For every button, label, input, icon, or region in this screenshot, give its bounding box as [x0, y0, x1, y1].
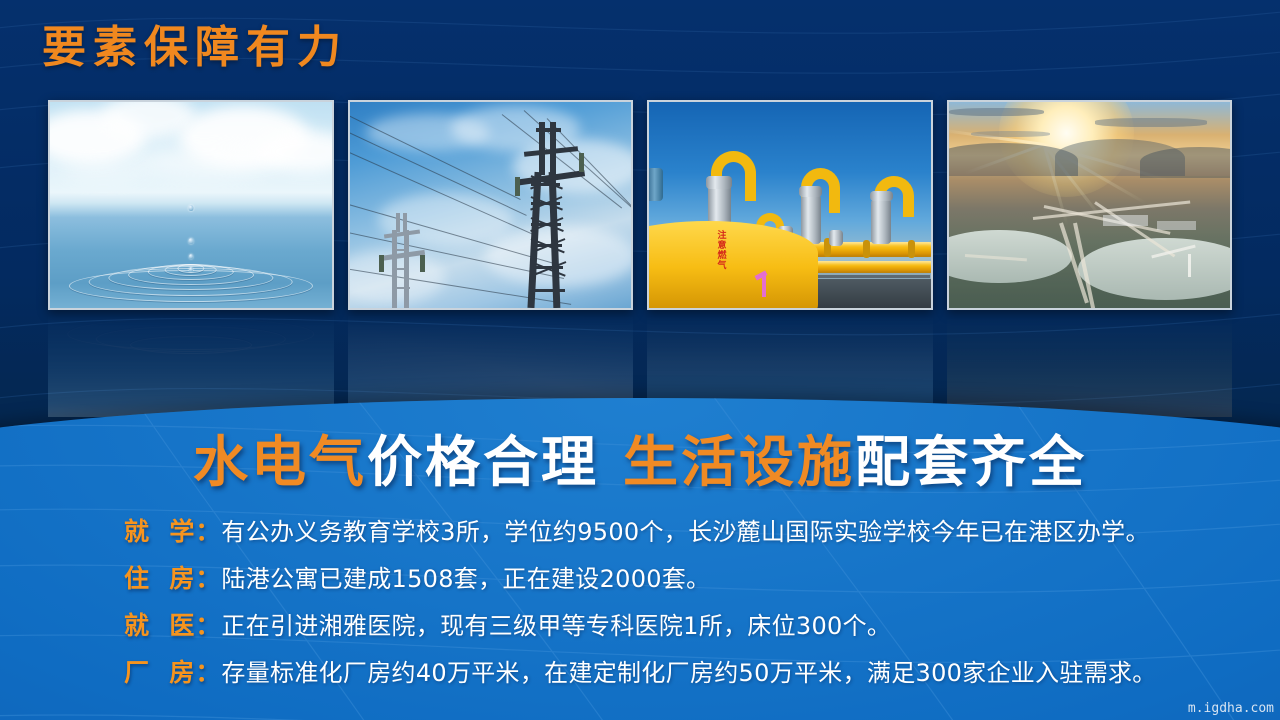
gas-pipeline-photo: 注意燃气 — [647, 100, 933, 310]
main-headline: 水电气价格合理生活设施配套齐全 — [0, 432, 1280, 492]
list-item-text: 正在引进湘雅医院，现有三级甲等专科医院1所，床位300个。 — [221, 606, 891, 641]
info-list: 就 学： 有公办义务教育学校3所，学位约9500个，长沙麓山国际实验学校今年已在… — [0, 512, 1280, 700]
city-scene — [949, 102, 1231, 308]
headline-part-2: 价格合理 — [367, 430, 599, 494]
section-title: 要素保障有力 — [42, 22, 348, 74]
site-watermark: m.igdha.com — [1188, 701, 1274, 716]
list-item-text: 存量标准化厂房约40万平米，在建定制化厂房约50万平米，满足300家企业入驻需求… — [221, 653, 1156, 688]
water-scene — [50, 102, 332, 308]
power-scene — [350, 102, 632, 308]
list-item: 就 医： 正在引进湘雅医院，现有三级甲等专科医院1所，床位300个。 — [0, 606, 1280, 653]
slide-root: 要素保障有力 — [0, 0, 1280, 720]
water-resource-photo — [48, 100, 334, 310]
headline-part-3: 生活设施 — [623, 430, 855, 494]
headline-part-1: 水电气 — [193, 430, 367, 494]
power-grid-photo — [348, 100, 634, 310]
list-item-text: 有公办义务教育学校3所，学位约9500个，长沙麓山国际实验学校今年已在港区办学。 — [221, 512, 1149, 547]
list-item: 厂 房： 存量标准化厂房约40万平米，在建定制化厂房约50万平米，满足300家企… — [0, 653, 1280, 700]
pipe-warning-text: 注意燃气 — [717, 230, 726, 270]
main-gas-pipe — [647, 221, 818, 310]
list-item-label: 就 医： — [124, 606, 221, 642]
transmission-tower-main — [490, 118, 603, 308]
city-aerial-photo — [947, 100, 1233, 310]
transmission-tower-secondary — [366, 213, 434, 308]
list-item-label: 就 学： — [124, 512, 221, 548]
gas-scene: 注意燃气 — [649, 102, 931, 308]
list-item-label: 住 房： — [124, 559, 221, 595]
list-item: 就 学： 有公办义务教育学校3所，学位约9500个，长沙麓山国际实验学校今年已在… — [0, 512, 1280, 559]
list-item-text: 陆港公寓已建成1508套，正在建设2000套。 — [221, 559, 710, 594]
list-item: 住 房： 陆港公寓已建成1508套，正在建设2000套。 — [0, 559, 1280, 606]
headline-part-4: 配套齐全 — [855, 430, 1087, 494]
photo-gallery: 注意燃气 — [48, 100, 1232, 310]
list-item-label: 厂 房： — [124, 653, 221, 689]
